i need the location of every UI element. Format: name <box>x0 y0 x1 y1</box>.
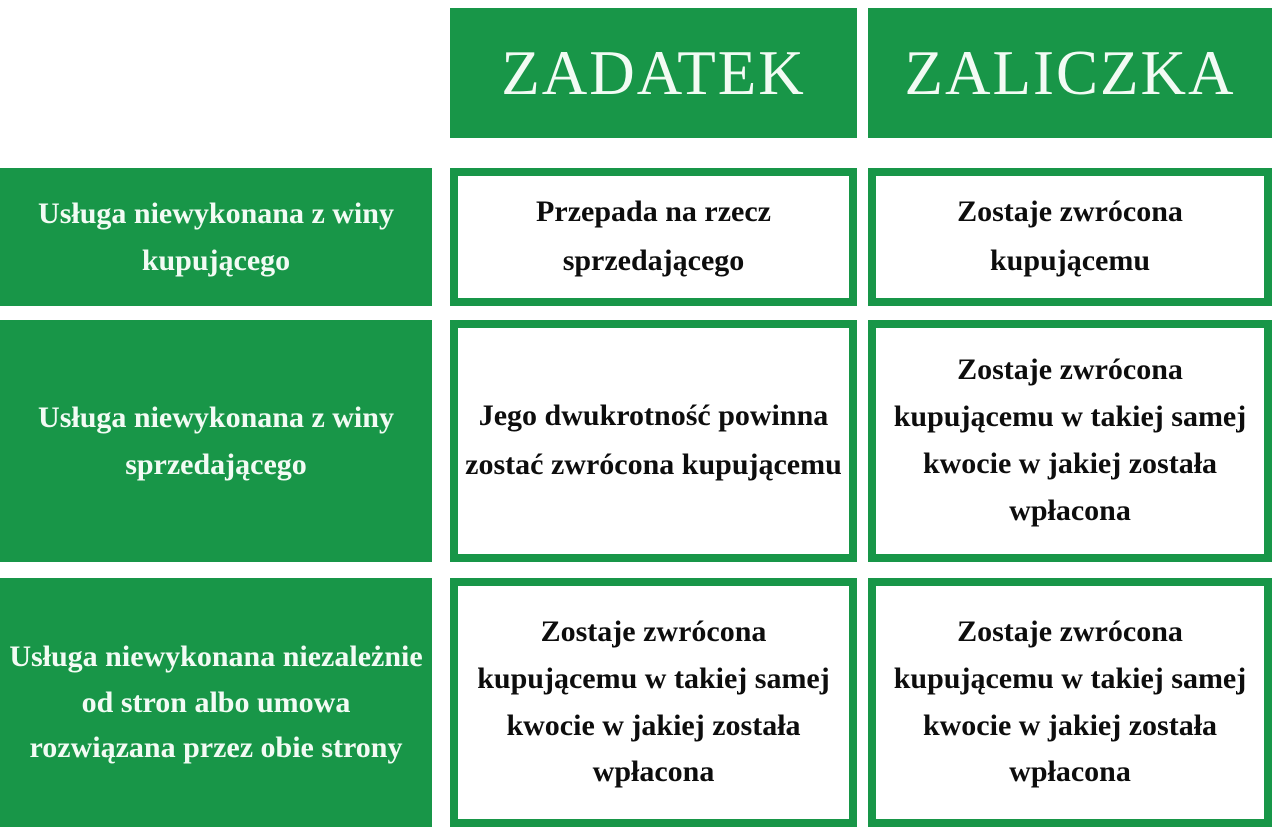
row-label-text: Usługa niewykonana z winy kupującego <box>8 190 424 285</box>
comparison-table: ZADATEK ZALICZKA Usługa niewykonana z wi… <box>0 0 1280 827</box>
cell-zadatek-text: Przepada na rzecz sprzedającego <box>464 188 843 285</box>
cell-zadatek: Zostaje zwrócona kupującemu w takiej sam… <box>450 578 857 827</box>
cell-zaliczka: Zostaje zwrócona kupującemu w takiej sam… <box>868 320 1272 562</box>
header-corner-cell <box>0 8 432 138</box>
cell-zadatek-text: Zostaje zwrócona kupującemu w takiej sam… <box>464 609 843 796</box>
cell-zaliczka-text: Zostaje zwrócona kupującemu <box>882 188 1258 285</box>
table-row: Usługa niewykonana niezależnie od stron … <box>0 578 1280 827</box>
cell-zaliczka-text: Zostaje zwrócona kupującemu w takiej sam… <box>882 347 1258 534</box>
cell-zaliczka: Zostaje zwrócona kupującemu <box>868 168 1272 306</box>
table-header-row: ZADATEK ZALICZKA <box>0 8 1280 138</box>
row-label-text: Usługa niewykonana z winy sprzedającego <box>8 394 424 489</box>
cell-zadatek-text: Jego dwukrotność powinna zostać zwrócona… <box>464 392 843 489</box>
row-label-cell: Usługa niewykonana z winy sprzedającego <box>0 320 432 562</box>
column-header-zadatek-label: ZADATEK <box>501 42 805 105</box>
row-label-text: Usługa niewykonana niezależnie od stron … <box>8 634 424 771</box>
table-row: Usługa niewykonana z winy kupującego Prz… <box>0 168 1280 306</box>
cell-zaliczka: Zostaje zwrócona kupującemu w takiej sam… <box>868 578 1272 827</box>
column-header-zadatek: ZADATEK <box>450 8 857 138</box>
row-label-cell: Usługa niewykonana z winy kupującego <box>0 168 432 306</box>
row-label-cell: Usługa niewykonana niezależnie od stron … <box>0 578 432 827</box>
column-header-zaliczka: ZALICZKA <box>868 8 1272 138</box>
cell-zadatek: Przepada na rzecz sprzedającego <box>450 168 857 306</box>
cell-zadatek: Jego dwukrotność powinna zostać zwrócona… <box>450 320 857 562</box>
table-row: Usługa niewykonana z winy sprzedającego … <box>0 320 1280 562</box>
cell-zaliczka-text: Zostaje zwrócona kupującemu w takiej sam… <box>882 609 1258 796</box>
column-header-zaliczka-label: ZALICZKA <box>905 42 1236 105</box>
